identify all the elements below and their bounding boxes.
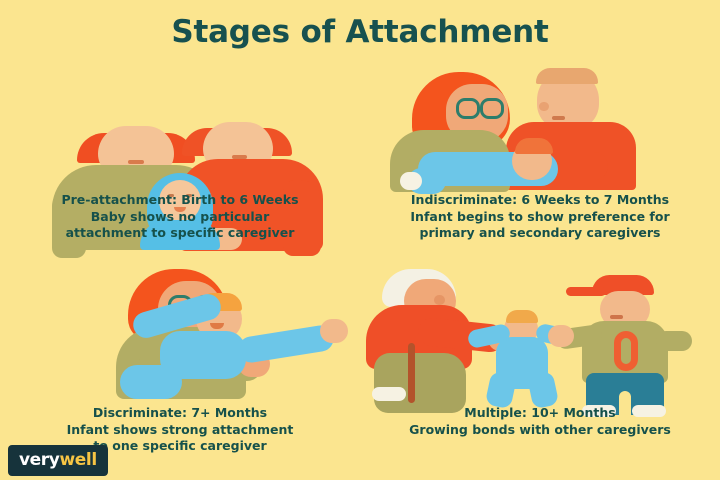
page-title: Stages of Attachment xyxy=(0,14,720,50)
verywell-logo[interactable]: verywell xyxy=(8,445,108,476)
toddler-leg-left xyxy=(485,371,518,410)
caption-line: Discriminate: 7+ Months xyxy=(0,405,360,422)
caption-indiscriminate: Indiscriminate: 6 Weeks to 7 Months Infa… xyxy=(360,192,720,242)
man-hair xyxy=(536,68,598,84)
child-leg xyxy=(120,365,182,399)
illustration-two-adults-holding-infant xyxy=(360,60,720,190)
boy-cap-brim xyxy=(566,287,606,296)
boy-hand-left xyxy=(548,325,574,347)
boy-mouth xyxy=(610,315,623,319)
caption-line: Growing bonds with other caregivers xyxy=(360,422,720,439)
caption-line: Pre-attachment: Birth to 6 Weeks xyxy=(0,192,360,209)
woman-glasses-left xyxy=(456,98,480,119)
caption-line: primary and secondary caregivers xyxy=(360,225,720,242)
illustration-two-adults-with-baby xyxy=(0,60,360,190)
grandmother-skirt xyxy=(374,353,466,413)
infographic-canvas: Stages of Attachment xyxy=(0,0,720,480)
caption-multiple: Multiple: 10+ Months Growing bonds with … xyxy=(360,405,720,438)
caption-line: Infant begins to show preference for xyxy=(360,209,720,226)
caption-line: attachment to specific caregiver xyxy=(0,225,360,242)
grandmother-shoe xyxy=(372,387,406,401)
caption-line: Infant shows strong attachment xyxy=(0,422,360,439)
infant-hair xyxy=(515,138,553,154)
grandmother-nose xyxy=(434,295,445,305)
infant-sock xyxy=(400,172,422,190)
child-hand-reaching xyxy=(320,319,348,343)
woman-glasses-right xyxy=(480,98,504,119)
boy-arm-right xyxy=(656,331,692,351)
panel-pre-attachment: Pre-attachment: Birth to 6 Weeks Baby sh… xyxy=(0,60,360,260)
caption-pre-attachment: Pre-attachment: Birth to 6 Weeks Baby sh… xyxy=(0,192,360,242)
caption-line: Multiple: 10+ Months xyxy=(360,405,720,422)
caption-line: Baby shows no particular xyxy=(0,209,360,226)
man-nose xyxy=(539,102,549,111)
toddler-leg-right xyxy=(527,371,560,410)
toddler-hair xyxy=(506,310,538,323)
adult-a-mouth xyxy=(128,160,144,164)
grandmother-cane xyxy=(408,343,415,403)
logo-well-text: well xyxy=(59,450,96,470)
logo-very-text: very xyxy=(19,450,59,470)
man-mouth xyxy=(552,116,565,120)
illustration-mother-hugging-child xyxy=(0,265,360,395)
caption-line: Indiscriminate: 6 Weeks to 7 Months xyxy=(360,192,720,209)
panel-indiscriminate: Indiscriminate: 6 Weeks to 7 Months Infa… xyxy=(360,60,720,260)
panel-multiple: Multiple: 10+ Months Growing bonds with … xyxy=(360,265,720,465)
boy-shirt-number xyxy=(614,331,638,371)
illustration-grandmother-child-boy-holding-hands xyxy=(360,265,720,395)
panel-discriminate: Discriminate: 7+ Months Infant shows str… xyxy=(0,265,360,465)
